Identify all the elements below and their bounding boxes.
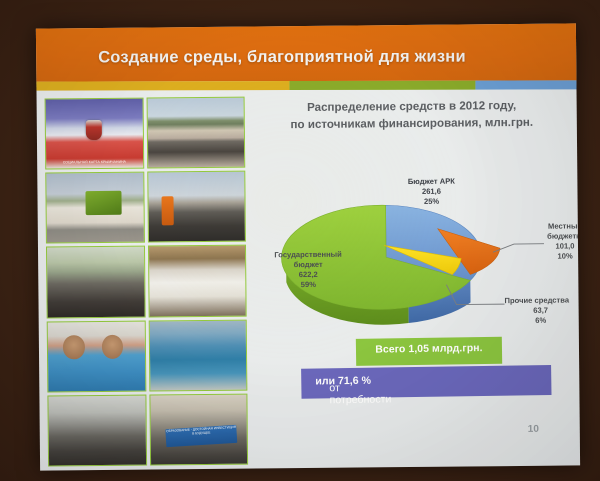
photo-social-card-krym: СОЦИАЛЬНАЯ КАРТА КРЫМЧАНИНА [45,98,144,170]
percent-rest: от потребности [329,381,391,406]
total-amount-text: Всего 1,05 млрд.грн. [356,343,502,356]
percent-of-need-text: или 71,6 % от потребности [315,375,374,388]
total-amount-callout: Всего 1,05 млрд.грн. [356,337,502,366]
photo-officials-crowd [46,246,145,318]
photo-medical-staff [147,245,246,317]
percent-of-need-callout: или 71,6 % от потребности [301,365,551,399]
photo-garbage-truck [45,172,144,244]
volunteer-face-2 [102,335,123,359]
accent-segment-gold [36,81,289,91]
presentation-slide: Создание среды, благоприятной для жизни … [36,23,580,470]
chart-title-line2: по источникам финансирования, млн.грн. [252,114,572,134]
banner-shape: ОБРАЗОВАНИЕ - ДОСТОЙНАЯ ИНВЕСТИЦИЯ В БУД… [165,424,237,446]
pie-label-state-budget: Государственный бюджет 622,2 59% [254,249,362,290]
accent-segment-blue [475,80,580,89]
photo-conference-hall [47,394,146,466]
pie-label-local-budgets: Местные бюджеты 101,0 10% [534,221,580,262]
pie-label-other-funds: Прочие средства 63,7 6% [504,295,580,326]
accent-segment-olive [289,81,475,90]
road-worker-shape [162,196,174,225]
photo-caption: СОЦИАЛЬНАЯ КАРТА КРЫМЧАНИНА [48,161,141,166]
slide-title: Создание среды, благоприятной для жизни [98,47,538,67]
volunteer-face-1 [63,336,84,360]
photo-collage: СОЦИАЛЬНАЯ КАРТА КРЫМЧАНИНА ОБРАЗОВАНИЕ … [45,97,249,467]
photo-education-expo-stand [148,319,247,391]
pie-chart: Бюджет АРК 261,6 25% Местные бюджеты 101… [255,151,577,344]
photo-education-banner: ОБРАЗОВАНИЕ - ДОСТОЙНАЯ ИНВЕСТИЦИЯ В БУД… [149,393,248,465]
photo-road-construction [147,171,246,243]
truck-cab-shape [85,191,122,215]
accent-color-bar [36,80,580,90]
photo-volunteers [47,320,146,392]
photo-new-cars-ceremony [146,97,245,169]
chart-title: Распределение средств в 2012 году, по ис… [252,97,572,134]
pie-label-budget-ark: Бюджет АРК 261,6 25% [383,176,479,207]
slide-page-number: 10 [528,424,539,435]
coat-of-arms-icon [86,120,102,140]
banner-text: ОБРАЗОВАНИЕ - ДОСТОЙНАЯ ИНВЕСТИЦИЯ В БУД… [165,424,237,446]
